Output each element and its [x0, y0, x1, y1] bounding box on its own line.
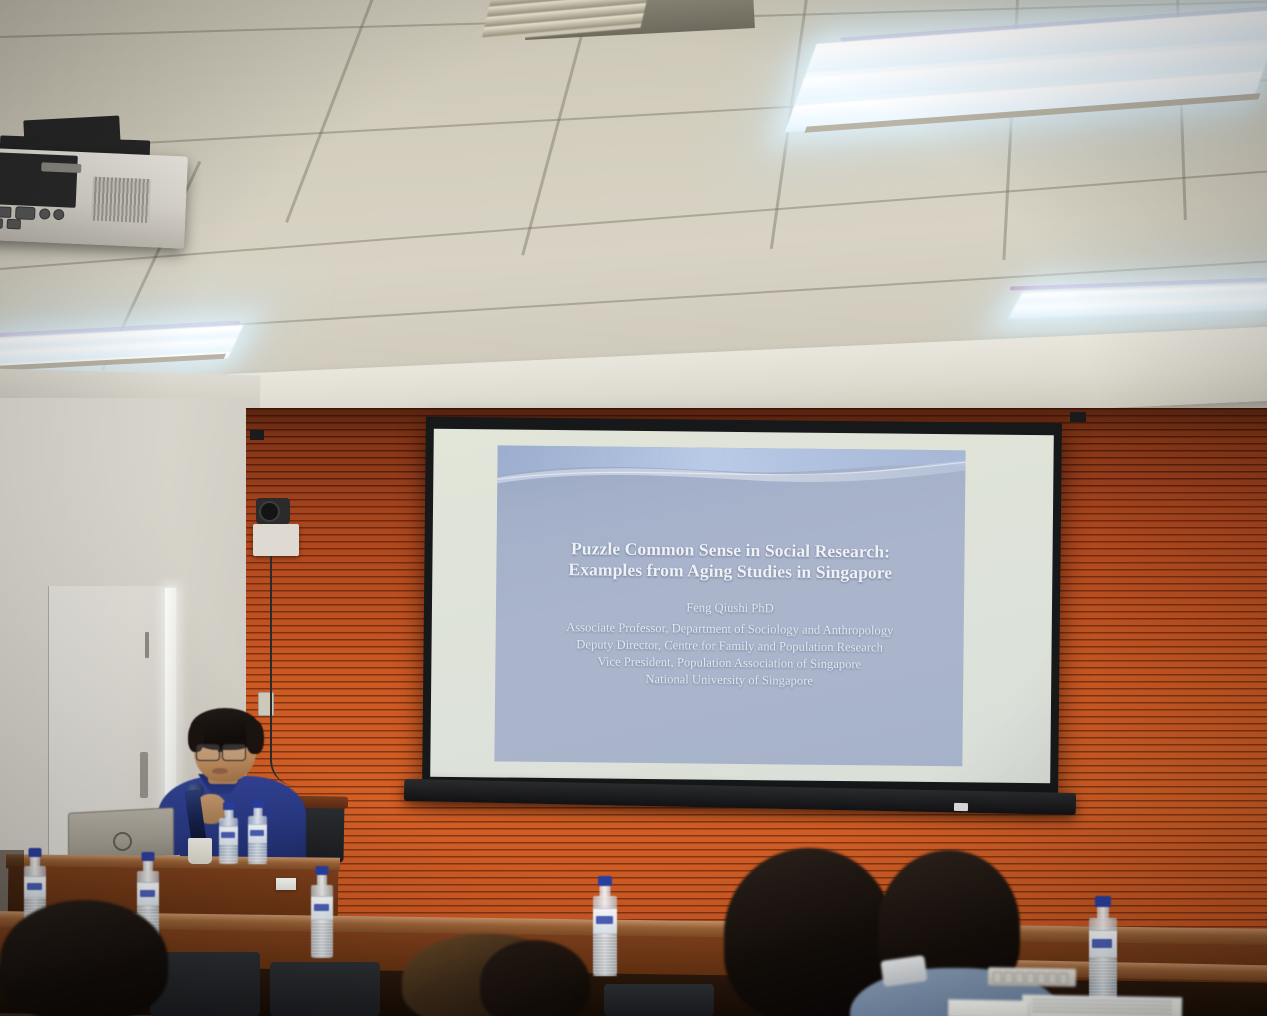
door-lock: [145, 632, 149, 658]
desk-document: [1022, 995, 1182, 1016]
water-bottle-row-5: [1089, 896, 1117, 1000]
audience-hair-dark-strand: [480, 940, 590, 1016]
audience-member-4: [866, 846, 1046, 1016]
slide-title: Puzzle Common Sense in Social Research: …: [496, 537, 964, 584]
audience-hair: [0, 900, 168, 1016]
projection-screen-surface: Puzzle Common Sense in Social Research: …: [430, 429, 1054, 783]
bottle-cap: [223, 802, 235, 810]
ceiling-beam: [227, 326, 1267, 420]
lecture-hall-photo: Puzzle Common Sense in Social Research: …: [0, 0, 1267, 1016]
bottle-label: [1089, 930, 1117, 958]
door-handle[interactable]: [140, 752, 148, 798]
desk-name-card: [276, 878, 296, 890]
water-bottle-presenter-2: [248, 800, 267, 864]
projector: [0, 147, 188, 248]
camera-mount-bracket: [253, 524, 299, 556]
screen-bar-logo: [954, 803, 968, 811]
ceiling: [0, 0, 1267, 420]
water-bottle-presenter-1: [219, 802, 238, 864]
projector-vent: [91, 177, 151, 223]
bottle-cap: [316, 866, 329, 875]
bottle-cap: [142, 852, 155, 861]
presenter-glasses-right: [222, 744, 246, 761]
desk-document-2: [948, 999, 1028, 1016]
audience-member-1: [0, 900, 168, 1016]
presenter-glasses-left: [196, 744, 220, 761]
audience-chair-2[interactable]: [270, 962, 380, 1016]
presenter-glasses-bridge: [218, 750, 223, 752]
bottle-cap: [252, 800, 264, 808]
slide-subtitle-block: Feng Qiushi PhD Associate Professor, Dep…: [495, 597, 964, 691]
desk-keyboard[interactable]: [988, 967, 1076, 987]
audience-chair-3[interactable]: [604, 984, 714, 1016]
bottle-cap: [29, 848, 42, 857]
slide-title-line2: Examples from Aging Studies in Singapore: [496, 558, 964, 584]
hp-logo-icon: [113, 832, 132, 851]
bottle-label: [311, 896, 333, 920]
screen-hook-left: [250, 430, 264, 440]
audience-member-2: [380, 930, 610, 1016]
slide-decorative-wave: [497, 445, 966, 502]
paper-cup: [188, 838, 212, 864]
bottle-label: [248, 824, 267, 843]
screen-hook-right: [1070, 412, 1086, 422]
camera-lens: [259, 501, 280, 522]
bottle-cap: [598, 876, 612, 886]
projected-slide: Puzzle Common Sense in Social Research: …: [494, 445, 965, 766]
bottle-label: [219, 826, 238, 845]
slide-presenter-name: Feng Qiushi PhD: [496, 597, 964, 619]
bottle-label: [24, 876, 46, 898]
slide-affiliation-4: National University of Singapore: [495, 669, 963, 691]
bottle-cap: [1095, 896, 1111, 907]
water-bottle-row-3: [311, 866, 333, 958]
